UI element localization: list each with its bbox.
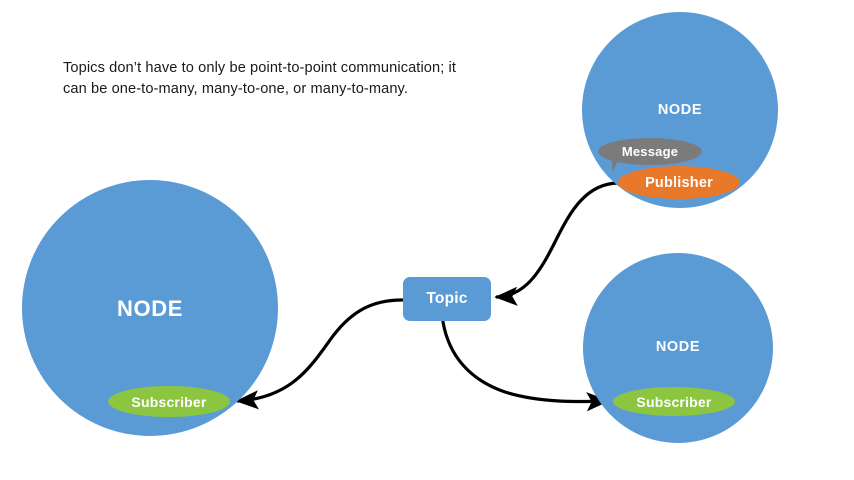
caption-text: Topics don’t have to only be point-to-po…	[63, 58, 493, 100]
subscriber-left[interactable]: Subscriber	[108, 386, 230, 417]
node-left-label: NODE	[22, 296, 278, 322]
diagram-canvas: Topics don’t have to only be point-to-po…	[0, 0, 854, 480]
subscriber-bottom-right[interactable]: Subscriber	[613, 387, 735, 416]
arrow-publisher-to-topic	[497, 183, 619, 297]
node-top-right-label: NODE	[582, 102, 778, 118]
node-bottom-right-label: NODE	[583, 339, 773, 355]
arrow-topic-to-bottom-right-subscriber	[443, 322, 607, 402]
publisher-top-right[interactable]: Publisher	[618, 166, 740, 199]
topic-box[interactable]: Topic	[403, 277, 491, 321]
message-bubble[interactable]: Message	[598, 138, 702, 165]
